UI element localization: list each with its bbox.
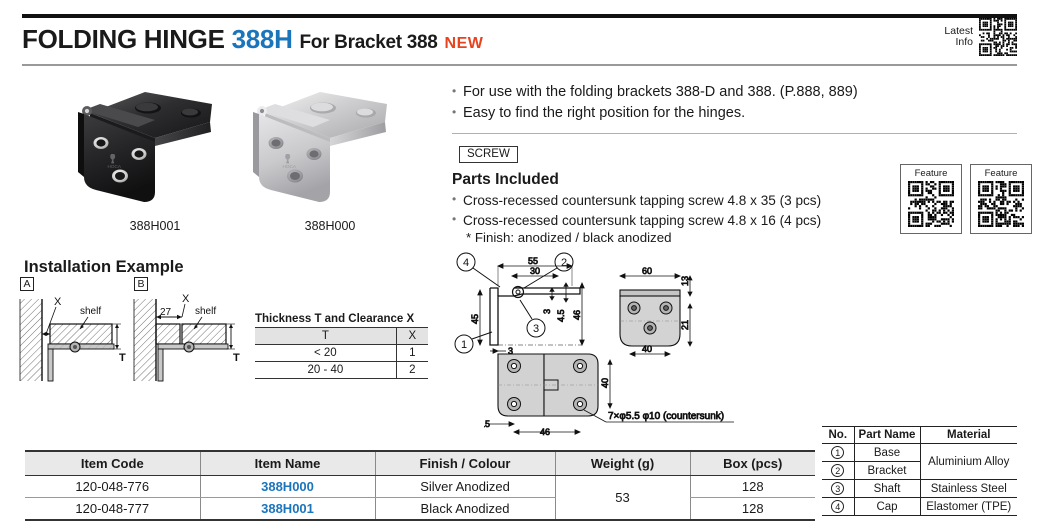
col-part-name: Part Name (854, 427, 920, 444)
callout-1: 1 (461, 339, 467, 351)
part-number-circle-2: 2 (831, 464, 844, 477)
parts-material-table: No. Part Name Material 1 Base Aluminium … (822, 426, 1017, 516)
row2-finish: Black Anodized (375, 498, 555, 521)
parts-r4-no: 4 (822, 498, 854, 516)
parts-r1-no: 1 (822, 444, 854, 462)
latest-info-line2: Info (944, 37, 973, 49)
thickness-r2-x: 2 (396, 362, 428, 379)
hinge-photo-black-svg: HOCA (60, 80, 250, 210)
feature-qr-label-1: Feature (915, 168, 948, 179)
feature-qr-box-2[interactable]: Feature (970, 164, 1032, 234)
col-item-code: Item Code (25, 451, 200, 476)
table-row: 1 Base Aluminium Alloy (822, 444, 1017, 462)
item-table-block: Item Code Item Name Finish / Colour Weig… (25, 450, 815, 521)
thickness-r1-x: 1 (396, 345, 428, 362)
parts-r3-material: Stainless Steel (920, 480, 1017, 498)
parts-included-item-1: Cross-recessed countersunk tapping screw… (452, 191, 922, 211)
photo-caption-1: 388H001 (60, 219, 250, 233)
header-title-row: FOLDING HINGE 388H For Bracket 388 NEW L… (22, 24, 1017, 58)
qr-code-feature-1[interactable] (908, 181, 954, 227)
thickness-r2-t: 20 - 40 (255, 362, 396, 379)
parts-r4-material: Elastomer (TPE) (920, 498, 1017, 516)
thickness-table-caption: Thickness T and Clearance X (255, 313, 430, 325)
parts-material-table-block: No. Part Name Material 1 Base Aluminium … (822, 426, 1017, 516)
dim-40-front: 40 (600, 378, 610, 388)
part-number-circle-1: 1 (831, 446, 844, 459)
section-divider (452, 133, 1017, 134)
hinge-photo-silver-svg: HOCA (235, 80, 425, 210)
part-number-circle-3: 3 (831, 482, 844, 495)
countersunk-note: 7×φ5.5 φ10 (countersunk) (608, 411, 724, 422)
col-box: Box (pcs) (690, 451, 815, 476)
datasheet-page: FOLDING HINGE 388H For Bracket 388 NEW L… (0, 0, 1039, 521)
parts-r3-part: Shaft (854, 480, 920, 498)
diagram-a-label-shelf: shelf (80, 306, 101, 317)
diagram-tag-b: B (134, 277, 148, 291)
photo-caption-2: 388H000 (235, 219, 425, 233)
thickness-header-t: T (255, 328, 396, 345)
row2-item-code: 120-048-777 (25, 498, 200, 521)
callout-4: 4 (463, 257, 469, 269)
diagram-tag-a: A (20, 277, 34, 291)
item-table-header-row: Item Code Item Name Finish / Colour Weig… (25, 451, 815, 476)
dim-3-mid: 3 (542, 309, 552, 314)
material-merged-aluminium: Aluminium Alloy (920, 444, 1017, 480)
table-row: 4 Cap Elastomer (TPE) (822, 498, 1017, 516)
parts-header-row: No. Part Name Material (822, 427, 1017, 444)
title-product-code: 388H (232, 24, 293, 54)
dim-46-side: 46 (572, 310, 582, 320)
thickness-clearance-table-block: Thickness T and Clearance X T X < 20 1 2… (255, 313, 430, 379)
row1-finish: Silver Anodized (375, 476, 555, 498)
table-row: 3 Shaft Stainless Steel (822, 480, 1017, 498)
installation-diagram-a: X shelf T (18, 277, 136, 382)
thickness-clearance-table: T X < 20 1 20 - 40 2 (255, 327, 428, 379)
dim-13: 13 (680, 276, 690, 286)
col-item-name: Item Name (200, 451, 375, 476)
row1-item-name[interactable]: 388H000 (200, 476, 375, 498)
parts-included-list: Cross-recessed countersunk tapping screw… (452, 191, 922, 230)
part-number-circle-4: 4 (831, 500, 844, 513)
header-bottom-rule (22, 64, 1017, 66)
product-photo-group: HOCA 388H001 (30, 80, 430, 240)
col-no: No. (822, 427, 854, 444)
dim-4-5: 4.5 (556, 309, 566, 322)
qr-code-latest-info[interactable] (979, 18, 1017, 56)
diagram-b-label-27: 27 (160, 307, 172, 318)
parts-r1-part: Base (854, 444, 920, 462)
table-row: < 20 1 (255, 345, 428, 362)
feature-qr-label-2: Feature (985, 168, 1018, 179)
drawing-end-view: 60 13 40 21 (602, 254, 722, 359)
col-material: Material (920, 427, 1017, 444)
new-badge: NEW (445, 35, 484, 52)
page-title: FOLDING HINGE 388H For Bracket 388 NEW (22, 24, 1017, 55)
dim-55: 55 (528, 256, 538, 266)
dim-60: 60 (642, 266, 652, 276)
thickness-r1-t: < 20 (255, 345, 396, 362)
dim-30: 30 (530, 266, 540, 276)
header-top-rule (22, 14, 1017, 18)
weight-merged-cell: 53 (555, 476, 690, 521)
screw-tag: SCREW (459, 146, 518, 163)
callout-3: 3 (533, 323, 539, 335)
installation-example-title: Installation Example (24, 258, 184, 277)
product-photo-388h001: HOCA 388H001 (60, 80, 250, 233)
title-main: FOLDING HINGE (22, 24, 225, 54)
row2-box: 128 (690, 498, 815, 521)
diagram-a-label-t: T (119, 352, 126, 364)
latest-info-block[interactable]: Latest Info (944, 18, 1017, 56)
svg-text:HOCA: HOCA (282, 164, 296, 169)
diagram-b-label-x: X (182, 293, 190, 305)
installation-diagram-b: 27 X shelf T (132, 277, 250, 382)
parts-r3-no: 3 (822, 480, 854, 498)
parts-r2-part: Bracket (854, 462, 920, 480)
row1-box: 128 (690, 476, 815, 498)
drawing-front-view: 40 15 46 7×φ5.5 φ10 (countersunk) (484, 350, 734, 445)
dim-46-front: 46 (540, 427, 550, 437)
table-row[interactable]: 120-048-777 388H001 Black Anodized 128 (25, 498, 815, 521)
feature-qr-group: Feature Feature (900, 164, 1032, 234)
feature-bullet-list: For use with the folding brackets 388-D … (452, 82, 922, 124)
diagram-a-label-x: X (54, 296, 62, 308)
callout-2: 2 (561, 257, 567, 269)
svg-text:HOCA: HOCA (107, 164, 121, 169)
title-subtitle: For Bracket 388 (300, 32, 438, 53)
feature-bullet-2: Easy to find the right position for the … (452, 103, 922, 124)
qr-code-feature-2[interactable] (978, 181, 1024, 227)
product-photo-388h000: HOCA 388H000 (235, 80, 425, 233)
parts-r2-no: 2 (822, 462, 854, 480)
feature-qr-box-1[interactable]: Feature (900, 164, 962, 234)
technical-drawings: 55 30 45 3 3 4.5 (452, 250, 812, 450)
diagram-b-label-t: T (233, 352, 240, 364)
thickness-header-x: X (396, 328, 428, 345)
parts-included-title: Parts Included (452, 171, 559, 189)
installation-diagrams: X shelf T A (18, 277, 253, 382)
thickness-header-row: T X (255, 328, 428, 345)
dim-15: 15 (484, 419, 490, 429)
parts-r4-part: Cap (854, 498, 920, 516)
table-row: 20 - 40 2 (255, 362, 428, 379)
latest-info-label: Latest Info (944, 26, 973, 49)
dim-45: 45 (470, 314, 480, 324)
diagram-b-label-shelf: shelf (195, 306, 216, 317)
finish-note: * Finish: anodized / black anodized (466, 230, 672, 245)
col-finish-colour: Finish / Colour (375, 451, 555, 476)
parts-included-item-2: Cross-recessed countersunk tapping screw… (452, 211, 922, 231)
col-weight: Weight (g) (555, 451, 690, 476)
dim-21: 21 (680, 320, 690, 330)
item-table: Item Code Item Name Finish / Colour Weig… (25, 450, 815, 521)
row2-item-name[interactable]: 388H001 (200, 498, 375, 521)
feature-bullet-1: For use with the folding brackets 388-D … (452, 82, 922, 103)
row1-item-code: 120-048-776 (25, 476, 200, 498)
table-row[interactable]: 120-048-776 388H000 Silver Anodized 53 1… (25, 476, 815, 498)
